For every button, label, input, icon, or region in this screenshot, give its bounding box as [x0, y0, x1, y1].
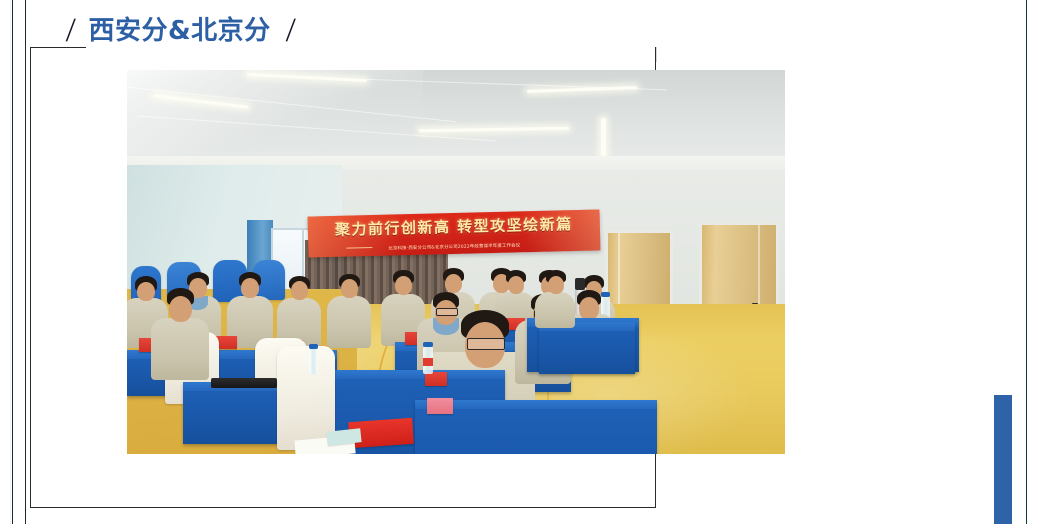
page-title-text: 西安分&北京分 — [88, 18, 270, 44]
slash-lead-icon: / — [65, 14, 76, 48]
scrollbar-thumb[interactable] — [994, 395, 1012, 524]
ceiling-bevel — [127, 70, 423, 170]
thermos-cap — [575, 278, 585, 290]
page-edge-rule-inner — [12, 0, 13, 524]
name-card-pink — [427, 398, 453, 414]
slide-root: / 西安分&北京分 / — [0, 0, 1040, 524]
page-edge-rule-secondary — [25, 0, 26, 524]
bottle-label — [423, 358, 433, 366]
bottle-cap — [601, 292, 610, 297]
page-edge-rule-right — [1026, 0, 1027, 524]
glasses-icon — [436, 308, 458, 316]
photo-canvas: 聚力前行创新高 转型攻坚绘新篇 北京科技·西安分公司&北京分公司2022年经营谋… — [127, 70, 785, 454]
scrollbar-track[interactable] — [992, 0, 1014, 524]
event-banner: 聚力前行创新高 转型攻坚绘新篇 北京科技·西安分公司&北京分公司2022年经营谋… — [308, 209, 601, 257]
bottle-cap — [309, 344, 318, 349]
decorative-frame-top-right-tick — [656, 47, 657, 62]
glasses-icon — [467, 338, 505, 350]
table-top — [305, 370, 505, 379]
laptop — [211, 378, 277, 388]
conference-table-side — [539, 322, 635, 374]
conference-room-photo: 聚力前行创新高 转型攻坚绘新篇 北京科技·西安分公司&北京分公司2022年经营谋… — [127, 70, 785, 454]
page-edge-rule-outer — [10, 0, 11, 524]
slash-trail-icon: / — [285, 14, 296, 48]
water-bottle — [309, 348, 318, 374]
name-card — [425, 372, 447, 386]
page-title: / 西安分&北京分 / — [66, 10, 295, 52]
bottle-cap — [423, 342, 433, 347]
